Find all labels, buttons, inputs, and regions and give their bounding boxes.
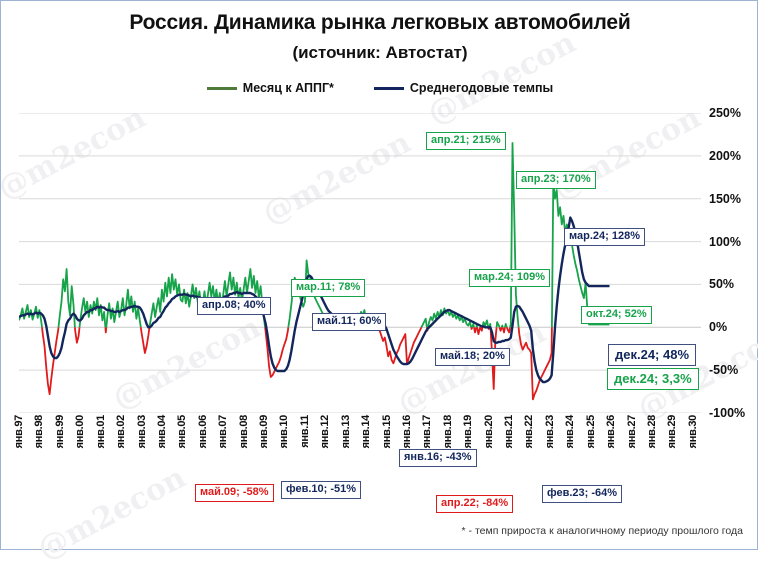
x-tick-label: янв.08 [238, 415, 250, 448]
annotation-callout: мар.24; 128% [564, 228, 645, 246]
annotation-callout: дек.24; 48% [608, 344, 696, 366]
x-tick-label: янв.14 [360, 415, 372, 448]
y-tick-label: 250% [709, 106, 741, 120]
x-tick-label: янв.97 [13, 415, 25, 448]
x-tick-label: янв.27 [626, 415, 638, 448]
y-tick-label: 0% [709, 320, 727, 334]
annotation-callout: май.11; 60% [312, 313, 386, 331]
chart-window: @m2econ @m2econ @m2econ @m2econ @m2econ … [0, 0, 758, 550]
x-axis: янв.97янв.98янв.99янв.00янв.01янв.02янв.… [19, 415, 701, 475]
y-tick-label: 50% [709, 277, 734, 291]
x-tick-label: янв.01 [95, 415, 107, 448]
annotation-callout: окт.24; 52% [581, 306, 652, 324]
x-tick-label: янв.04 [156, 415, 168, 448]
annotation-callout: фев.10; -51% [281, 481, 361, 499]
y-axis: 250%200%150%100%50%0%-50%-100% [703, 113, 758, 413]
x-tick-label: янв.98 [33, 415, 45, 448]
legend-swatch-annual [374, 87, 404, 90]
x-tick-label: янв.25 [585, 415, 597, 448]
x-tick-label: янв.30 [687, 415, 699, 448]
x-tick-label: янв.18 [442, 415, 454, 448]
legend-swatch-monthly [207, 87, 237, 90]
legend-item-annual[interactable]: Среднегодовые темпы [374, 81, 553, 95]
x-tick-label: янв.22 [523, 415, 535, 448]
annotation-callout: май.18; 20% [435, 348, 510, 366]
annotation-callout: май.09; -58% [195, 484, 274, 502]
watermark: @m2econ [32, 460, 191, 567]
plot-svg [19, 113, 701, 413]
y-tick-label: -100% [709, 406, 745, 420]
x-tick-label: янв.16 [401, 415, 413, 448]
annotation-callout: мар.24; 109% [469, 269, 550, 287]
annotation-callout: мар.11; 78% [291, 279, 365, 297]
x-tick-label: янв.29 [666, 415, 678, 448]
x-tick-label: янв.00 [74, 415, 86, 448]
legend-item-monthly[interactable]: Месяц к АППГ* [207, 81, 334, 95]
x-tick-label: янв.07 [217, 415, 229, 448]
chart-legend: Месяц к АППГ* Среднегодовые темпы [1, 81, 758, 95]
x-tick-label: янв.19 [462, 415, 474, 448]
y-tick-label: -50% [709, 363, 738, 377]
annotation-callout: фев.23; -64% [542, 485, 622, 503]
x-tick-label: янв.15 [381, 415, 393, 448]
chart-title: Россия. Динамика рынка легковых автомоби… [1, 11, 758, 35]
footnote: * - темп прироста к аналогичному периоду… [1, 525, 743, 537]
annotation-callout: апр.08; 40% [197, 297, 271, 315]
x-tick-label: янв.26 [605, 415, 617, 448]
y-tick-label: 200% [709, 149, 741, 163]
x-tick-label: янв.13 [340, 415, 352, 448]
legend-label-annual: Среднегодовые темпы [410, 81, 553, 95]
x-tick-label: янв.03 [136, 415, 148, 448]
annotation-callout: апр.23; 170% [516, 171, 596, 189]
x-tick-label: янв.17 [421, 415, 433, 448]
x-tick-label: янв.28 [646, 415, 658, 448]
x-tick-label: янв.05 [176, 415, 188, 448]
x-tick-label: янв.06 [197, 415, 209, 448]
legend-label-monthly: Месяц к АППГ* [243, 81, 334, 95]
x-tick-label: янв.11 [299, 415, 311, 448]
annotation-callout: дек.24; 3,3% [607, 368, 699, 390]
x-tick-label: янв.99 [54, 415, 66, 448]
x-tick-label: янв.10 [278, 415, 290, 448]
x-tick-label: янв.21 [503, 415, 515, 448]
annotation-callout: апр.21; 215% [426, 132, 506, 150]
annotation-callout: янв.16; -43% [399, 449, 477, 467]
x-tick-label: янв.23 [544, 415, 556, 448]
x-tick-label: янв.20 [483, 415, 495, 448]
x-tick-label: янв.09 [258, 415, 270, 448]
y-tick-label: 100% [709, 235, 741, 249]
x-tick-label: янв.02 [115, 415, 127, 448]
plot-area [19, 113, 701, 413]
y-tick-label: 150% [709, 192, 741, 206]
annotation-callout: апр.22; -84% [436, 495, 513, 513]
x-tick-label: янв.24 [564, 415, 576, 448]
chart-subtitle: (источник: Автостат) [1, 43, 758, 63]
x-tick-label: янв.12 [319, 415, 331, 448]
